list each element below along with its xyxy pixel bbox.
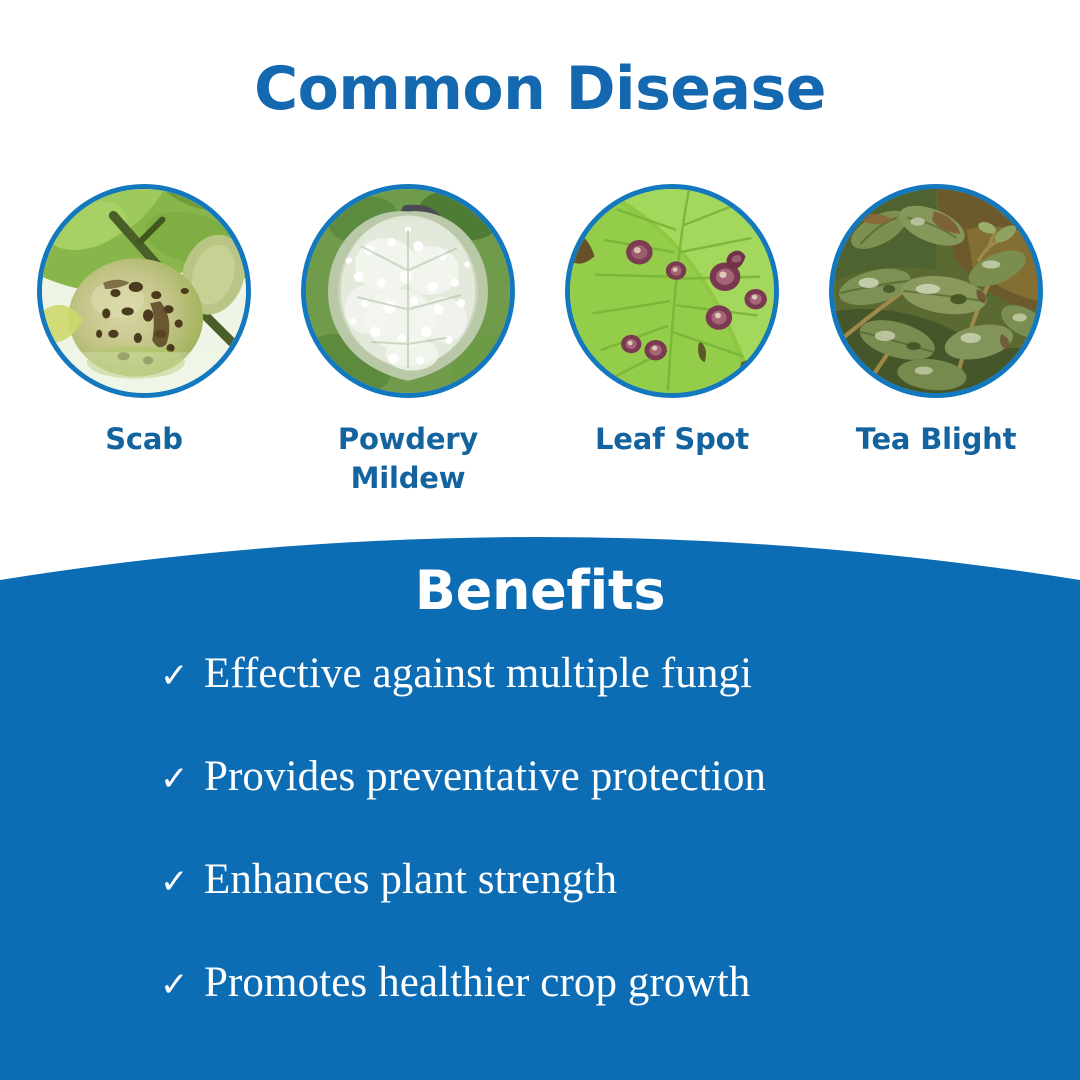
check-icon: ✓ [160,865,204,899]
disease-label-tea-blight: Tea Blight [856,420,1017,459]
check-icon: ✓ [160,659,204,693]
benefit-text: Provides preventative protection [204,755,766,798]
disease-card-leaf-spot[interactable]: Leaf Spot [564,184,780,498]
disease-card-tea-blight[interactable]: Tea Blight [828,184,1044,498]
powdery-mildew-photo [301,184,515,398]
benefit-item: ✓ Effective against multiple fungi [0,652,1080,755]
benefit-item: ✓ Enhances plant strength [0,858,1080,961]
disease-card-powdery-mildew[interactable]: Powdery Mildew [300,184,516,498]
benefit-item: ✓ Provides preventative protection [0,755,1080,858]
benefit-text: Effective against multiple fungi [204,652,752,695]
tea-blight-photo [829,184,1043,398]
check-icon: ✓ [160,762,204,796]
leaf-spot-photo [565,184,779,398]
disease-label-leaf-spot: Leaf Spot [595,420,749,459]
benefits-list: ✓ Effective against multiple fungi ✓ Pro… [0,652,1080,1064]
scab-photo [37,184,251,398]
infographic-page: Common Disease [0,0,1080,1080]
benefit-text: Enhances plant strength [204,858,617,901]
benefits-panel: Benefits ✓ Effective against multiple fu… [0,500,1080,1080]
disease-card-scab[interactable]: Scab [36,184,252,498]
benefit-text: Promotes healthier crop growth [204,961,750,1004]
benefit-item: ✓ Promotes healthier crop growth [0,961,1080,1064]
benefits-title: Benefits [0,559,1080,622]
disease-label-scab: Scab [105,420,183,459]
disease-list: Scab [0,184,1080,498]
page-title: Common Disease [0,54,1080,124]
check-icon: ✓ [160,968,204,1002]
disease-label-powdery-mildew: Powdery Mildew [300,420,516,498]
